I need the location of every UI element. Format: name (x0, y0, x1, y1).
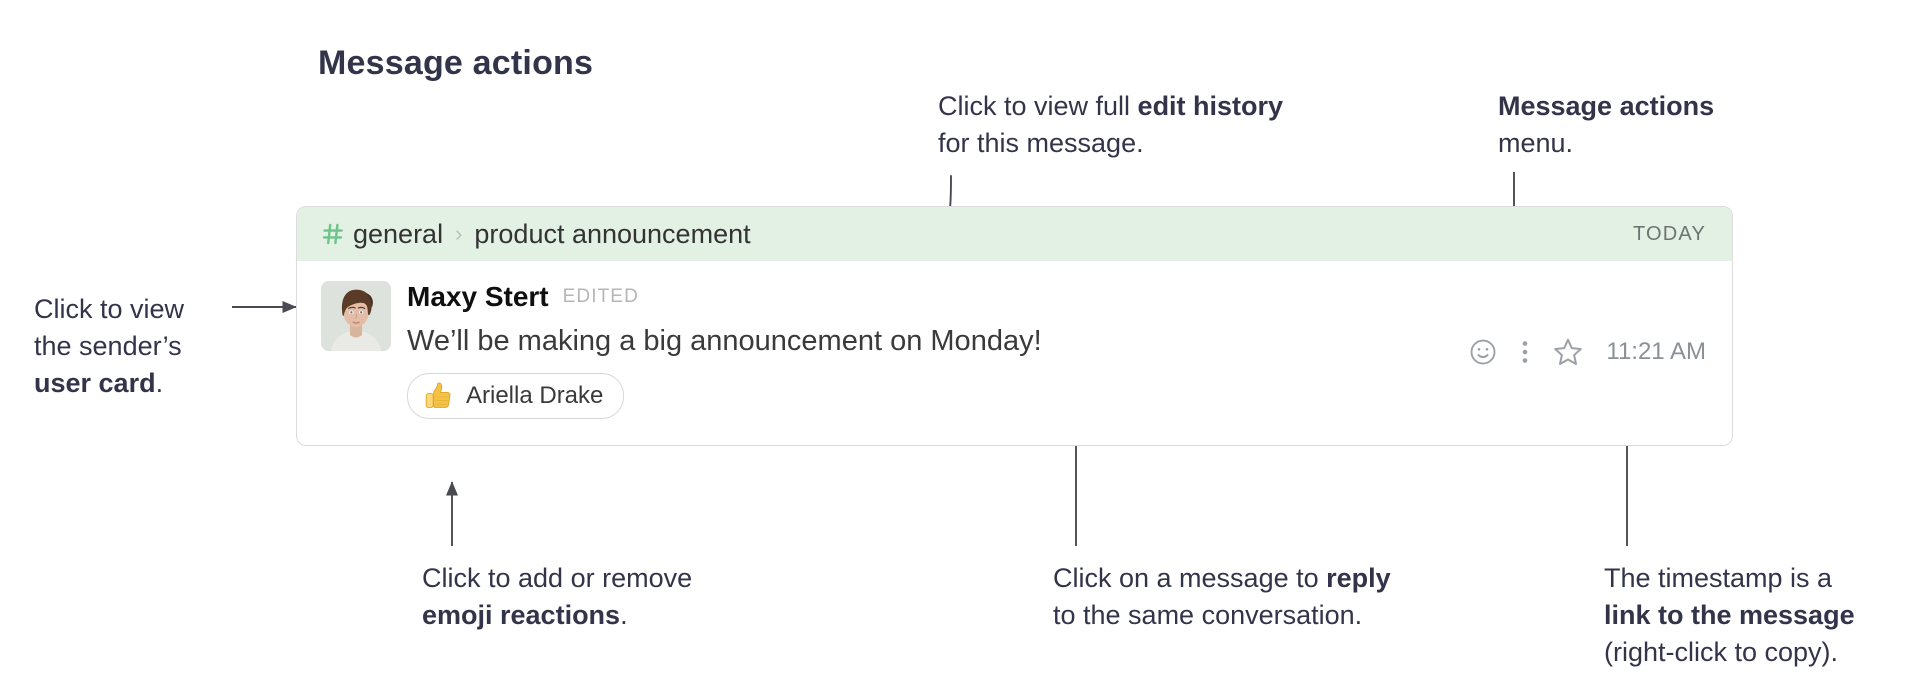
annotation-user-card: Click to view the sender’s user card. (34, 291, 249, 402)
message-actions-bar: 11:21 AM (1468, 281, 1706, 419)
annotation-edit-history: Click to view full edit history for this… (938, 88, 1368, 162)
annotation-timestamp-line3: (right-click to copy). (1604, 637, 1838, 667)
chevron-right-icon: › (455, 223, 462, 245)
annotation-timestamp: The timestamp is a link to the message (… (1604, 560, 1914, 671)
thumbs-up-emoji (422, 380, 454, 412)
annotation-reply-bold: reply (1326, 563, 1391, 593)
annotation-edit-history-bold: edit history (1138, 91, 1284, 121)
date-label: TODAY (1633, 223, 1706, 246)
annotation-actions-menu-bold: Message actions (1498, 91, 1714, 121)
emoji-reaction-icon[interactable] (1468, 337, 1498, 367)
annotation-user-card-bold: user card (34, 368, 156, 398)
message-timestamp[interactable]: 11:21 AM (1606, 338, 1706, 366)
hash-icon (321, 222, 345, 246)
message-card-body: Maxy Stert EDITED We’ll be making a big … (297, 261, 1732, 445)
avatar-image (321, 281, 391, 351)
vertical-dots-icon[interactable] (1520, 337, 1530, 367)
message-body-text[interactable]: We’ll be making a big announcement on Mo… (407, 324, 1448, 358)
sender-name[interactable]: Maxy Stert (407, 281, 549, 313)
annotation-user-card-period: . (156, 368, 164, 398)
annotation-actions-menu: Message actions menu. (1498, 88, 1798, 162)
annotation-reply-line2: to the same conversation. (1053, 600, 1362, 630)
message-header-row: Maxy Stert EDITED (407, 281, 1448, 313)
annotation-timestamp-line1: The timestamp is a (1604, 563, 1832, 593)
reaction-label: Ariella Drake (466, 382, 603, 410)
topic-name[interactable]: product announcement (474, 219, 750, 250)
annotation-user-card-line1: Click to view (34, 294, 184, 324)
edited-badge[interactable]: EDITED (563, 286, 639, 308)
reaction-pill[interactable]: Ariella Drake (407, 373, 624, 419)
annotation-timestamp-bold: link to the message (1604, 600, 1855, 630)
annotation-edit-history-line2: for this message. (938, 128, 1144, 158)
annotation-emoji-reactions: Click to add or remove emoji reactions. (422, 560, 752, 634)
annotation-emoji-line1: Click to add or remove (422, 563, 692, 593)
annotation-actions-menu-line2: menu. (1498, 128, 1573, 158)
annotation-emoji-period: . (620, 600, 628, 630)
annotation-emoji-bold: emoji reactions (422, 600, 620, 630)
message-content[interactable]: Maxy Stert EDITED We’ll be making a big … (407, 281, 1448, 419)
annotation-edit-history-prefix: Click to view full (938, 91, 1138, 121)
annotation-reply-prefix: Click on a message to (1053, 563, 1326, 593)
avatar[interactable] (321, 281, 391, 351)
page-title: Message actions (318, 44, 593, 83)
reactions-row: Ariella Drake (407, 373, 1448, 419)
star-outline-icon[interactable] (1552, 336, 1584, 368)
message-card-header: general › product announcement TODAY (297, 207, 1732, 261)
stream-name[interactable]: general (353, 219, 443, 250)
annotation-reply: Click on a message to reply to the same … (1053, 560, 1453, 634)
annotation-user-card-line2: the sender’s (34, 331, 182, 361)
message-card: general › product announcement TODAY (296, 206, 1733, 446)
